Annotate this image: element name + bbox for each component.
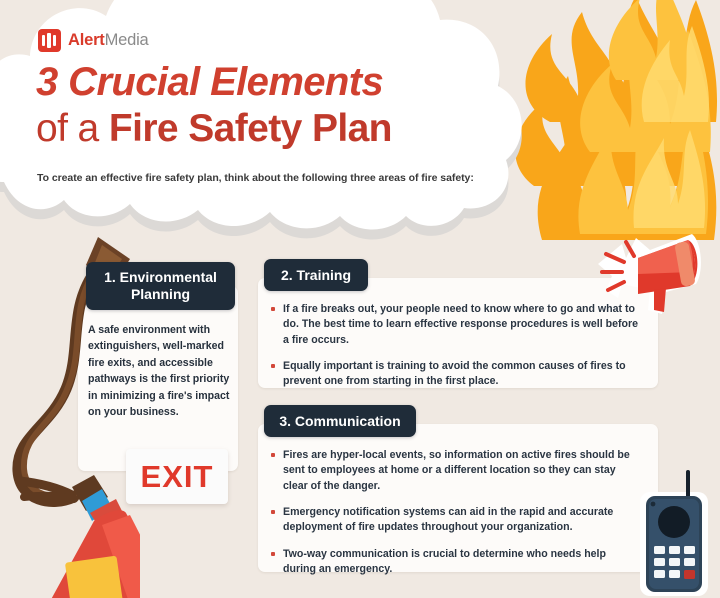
brand-logo[interactable]: AlertMedia	[38, 29, 149, 52]
exit-sign: EXIT	[126, 449, 228, 504]
list-item: If a fire breaks out, your people need t…	[270, 302, 646, 348]
title-line-1: 3 Crucial Elements	[36, 62, 392, 102]
brand-name-alert: Alert	[68, 31, 105, 49]
list-item: Equally important is training to avoid t…	[270, 359, 646, 390]
title-line-2: of a Fire Safety Plan	[36, 109, 392, 148]
card-bullets-training: If a fire breaks out, your people need t…	[270, 302, 646, 401]
flames-illustration	[430, 0, 720, 242]
brand-name: AlertMedia	[68, 31, 149, 50]
page-title: 3 Crucial Elements of a Fire Safety Plan	[36, 62, 392, 148]
exit-sign-label: EXIT	[141, 459, 214, 495]
card-body-environmental-planning: A safe environment with extinguishers, w…	[88, 322, 234, 420]
brand-name-media: Media	[105, 31, 149, 49]
card-bullets-communication: Fires are hyper-local events, so informa…	[270, 448, 636, 589]
title-line-2-thin: of a	[36, 107, 109, 150]
page-subtitle: To create an effective fire safety plan,…	[37, 172, 474, 184]
list-item: Emergency notification systems can aid i…	[270, 505, 636, 536]
card-heading-training: 2. Training	[264, 259, 368, 291]
list-item: Two-way communication is crucial to dete…	[270, 547, 636, 578]
list-item: Fires are hyper-local events, so informa…	[270, 448, 636, 494]
card-heading-environmental-planning: 1. Environmental Planning	[86, 262, 235, 310]
card-heading-communication: 3. Communication	[264, 405, 416, 437]
infographic-canvas: AlertMedia 3 Crucial Elements of a Fire …	[0, 0, 720, 598]
title-line-2-bold: Fire Safety Plan	[109, 107, 392, 150]
alertmedia-logo-icon	[38, 29, 61, 52]
